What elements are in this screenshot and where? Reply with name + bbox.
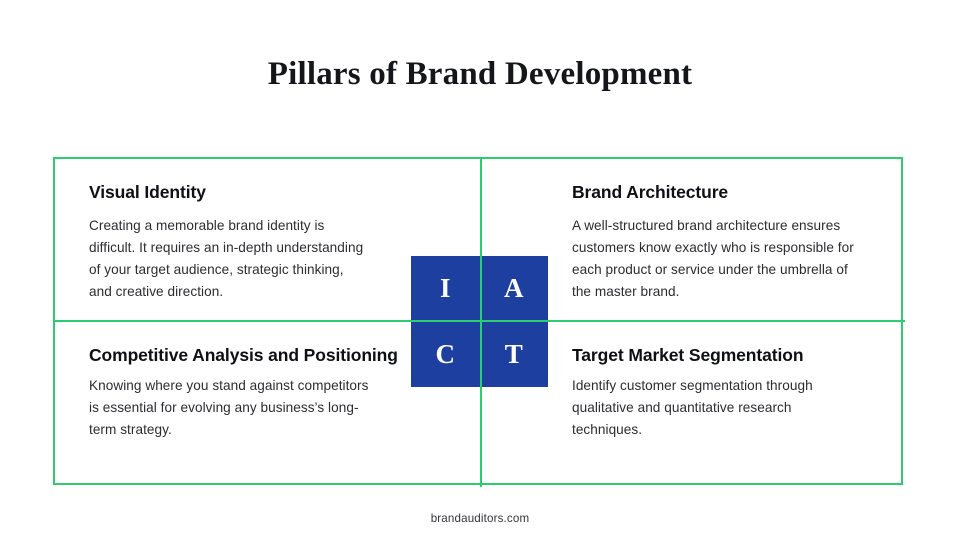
- matrix-vertical-divider: [480, 159, 482, 487]
- quadrant-body: Identify customer segmentation through q…: [572, 375, 862, 441]
- quadrant-heading: Target Market Segmentation: [572, 344, 875, 367]
- slide-canvas: Pillars of Brand Development Visual Iden…: [0, 0, 960, 540]
- acronym-cell-a: A: [480, 256, 549, 322]
- matrix-horizontal-divider: [55, 320, 905, 322]
- quadrant-body: A well-structured brand architecture ens…: [572, 215, 862, 303]
- page-title: Pillars of Brand Development: [0, 56, 960, 94]
- quadrant-body: Creating a memorable brand identity is d…: [89, 215, 369, 303]
- footer-source: brandauditors.com: [0, 512, 960, 525]
- acronym-cell-t: T: [480, 322, 549, 388]
- quadrant-body: Knowing where you stand against competit…: [89, 375, 369, 441]
- quadrant-heading: Visual Identity: [89, 181, 440, 204]
- acronym-cell-c: C: [411, 322, 480, 388]
- quadrant-matrix: Visual Identity Creating a memorable bra…: [53, 157, 903, 485]
- quadrant-heading: Brand Architecture: [572, 181, 875, 204]
- quadrant-heading: Competitive Analysis and Positioning: [89, 344, 440, 367]
- acronym-cell-i: I: [411, 256, 480, 322]
